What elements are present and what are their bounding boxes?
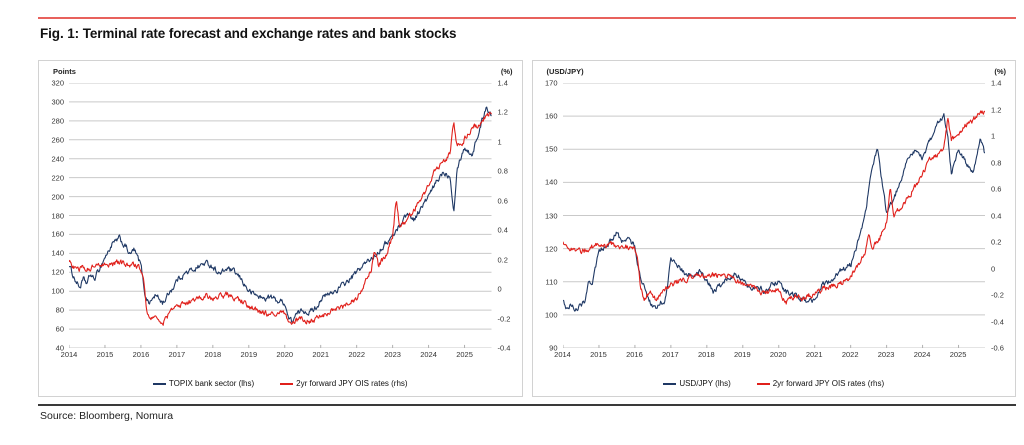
legend-label: 2yr forward JPY OIS rates (rhs) (296, 379, 407, 388)
x-axis-ticks: 2014201520162017201820192020202120222023… (563, 350, 986, 362)
axis-tick-label: 60 (56, 325, 64, 334)
axis-tick-label: 2020 (770, 350, 787, 359)
series-line (69, 112, 492, 325)
axis-tick-label: 1 (991, 132, 995, 141)
axis-tick-label: 0.2 (498, 255, 508, 264)
legend-swatch-icon (280, 383, 293, 385)
axis-tick-label: -0.6 (991, 344, 1004, 353)
chart-legend: USD/JPY (lhs)2yr forward JPY OIS rates (… (533, 379, 1016, 388)
axis-tick-label: -0.4 (498, 344, 511, 353)
axis-tick-label: -0.2 (498, 314, 511, 323)
axis-tick-label: 2025 (950, 350, 967, 359)
right-axis-unit-label: (%) (501, 67, 513, 76)
legend-swatch-icon (663, 383, 676, 385)
axis-tick-label: 0 (991, 264, 995, 273)
series-line (563, 111, 986, 304)
axis-tick-label: 2018 (698, 350, 715, 359)
bottom-rule (38, 404, 1016, 406)
axis-tick-label: 300 (51, 97, 64, 106)
figure-title: Fig. 1: Terminal rate forecast and excha… (40, 26, 456, 41)
axis-tick-label: 2014 (554, 350, 571, 359)
legend-label: 2yr forward JPY OIS rates (rhs) (773, 379, 884, 388)
axis-tick-label: 1 (498, 137, 502, 146)
axis-tick-label: 1.2 (498, 108, 508, 117)
left-axis-ticks: 17016015014013012011010090 (533, 83, 561, 348)
axis-tick-label: 120 (545, 244, 558, 253)
legend-label: TOPIX bank sector (lhs) (169, 379, 254, 388)
axis-tick-label: 0.4 (991, 211, 1001, 220)
chart-svg (69, 83, 492, 348)
plot-area (563, 83, 986, 348)
axis-tick-label: 2021 (806, 350, 823, 359)
legend-item[interactable]: USD/JPY (lhs) (663, 379, 730, 388)
right-axis-ticks: 1.41.210.80.60.40.20-0.2-0.4 (494, 83, 522, 348)
axis-tick-label: 100 (545, 310, 558, 319)
axis-tick-label: 2016 (626, 350, 643, 359)
axis-tick-label: 80 (56, 306, 64, 315)
axis-tick-label: 180 (51, 211, 64, 220)
axis-tick-label: 2019 (240, 350, 257, 359)
axis-tick-label: 2017 (169, 350, 186, 359)
chart-panel-left: Points (%) 32030028026024022020018016014… (38, 60, 523, 397)
axis-tick-label: 2021 (312, 350, 329, 359)
chart-svg (563, 83, 986, 348)
axis-tick-label: 160 (51, 230, 64, 239)
axis-tick-label: 0 (498, 285, 502, 294)
axis-tick-label: 2017 (662, 350, 679, 359)
axis-tick-label: 1.4 (498, 79, 508, 88)
left-axis-ticks: 3203002802602402202001801601401201008060… (39, 83, 67, 348)
axis-tick-label: 2016 (133, 350, 150, 359)
axis-tick-label: 2024 (420, 350, 437, 359)
axis-tick-label: 200 (51, 192, 64, 201)
axis-tick-label: 0.8 (991, 158, 1001, 167)
axis-tick-label: 2019 (734, 350, 751, 359)
legend-swatch-icon (153, 383, 166, 385)
axis-tick-label: 130 (545, 211, 558, 220)
axis-tick-label: 1.2 (991, 105, 1001, 114)
top-accent-rule (38, 17, 1016, 19)
chart-legend: TOPIX bank sector (lhs)2yr forward JPY O… (39, 379, 522, 388)
axis-tick-label: 260 (51, 135, 64, 144)
source-note: Source: Bloomberg, Nomura (40, 410, 173, 422)
axis-tick-label: 280 (51, 116, 64, 125)
axis-tick-label: 110 (546, 277, 558, 286)
axis-tick-label: 120 (51, 268, 64, 277)
axis-tick-label: 2014 (61, 350, 78, 359)
axis-tick-label: 160 (545, 112, 558, 121)
axis-tick-label: 2020 (276, 350, 293, 359)
axis-tick-label: 2022 (842, 350, 859, 359)
axis-tick-label: 100 (51, 287, 64, 296)
axis-tick-label: 2015 (590, 350, 607, 359)
axis-tick-label: 0.4 (498, 226, 508, 235)
axis-tick-label: 2018 (204, 350, 221, 359)
axis-tick-label: 220 (51, 173, 64, 182)
plot-area (69, 83, 492, 348)
axis-tick-label: 2024 (914, 350, 931, 359)
axis-tick-label: 240 (51, 154, 64, 163)
right-axis-ticks: 1.41.210.80.60.40.20-0.2-0.4-0.6 (987, 83, 1015, 348)
axis-tick-label: 170 (545, 79, 558, 88)
figure-page: Fig. 1: Terminal rate forecast and excha… (0, 0, 1024, 445)
left-axis-unit-label: Points (53, 67, 76, 76)
legend-item[interactable]: 2yr forward JPY OIS rates (rhs) (757, 379, 884, 388)
axis-tick-label: -0.2 (991, 291, 1004, 300)
axis-tick-label: 0.2 (991, 238, 1001, 247)
axis-tick-label: 0.6 (498, 196, 508, 205)
x-axis-ticks: 2014201520162017201820192020202120222023… (69, 350, 492, 362)
axis-tick-label: 2022 (348, 350, 365, 359)
chart-panel-right: (USD/JPY) (%) 17016015014013012011010090… (532, 60, 1017, 397)
axis-tick-label: -0.4 (991, 317, 1004, 326)
axis-tick-label: 2025 (456, 350, 473, 359)
legend-label: USD/JPY (lhs) (679, 379, 730, 388)
right-axis-unit-label: (%) (994, 67, 1006, 76)
chart-panels: Points (%) 32030028026024022020018016014… (38, 60, 1016, 397)
axis-tick-label: 320 (51, 79, 64, 88)
left-axis-unit-label: (USD/JPY) (547, 67, 584, 76)
axis-tick-label: 140 (545, 178, 558, 187)
legend-item[interactable]: 2yr forward JPY OIS rates (rhs) (280, 379, 407, 388)
legend-swatch-icon (757, 383, 770, 385)
legend-item[interactable]: TOPIX bank sector (lhs) (153, 379, 254, 388)
axis-tick-label: 150 (545, 145, 558, 154)
axis-tick-label: 140 (51, 249, 64, 258)
axis-tick-label: 0.8 (498, 167, 508, 176)
axis-tick-label: 2023 (878, 350, 895, 359)
axis-tick-label: 1.4 (991, 79, 1001, 88)
axis-tick-label: 2015 (97, 350, 114, 359)
axis-tick-label: 2023 (384, 350, 401, 359)
axis-tick-label: 0.6 (991, 185, 1001, 194)
